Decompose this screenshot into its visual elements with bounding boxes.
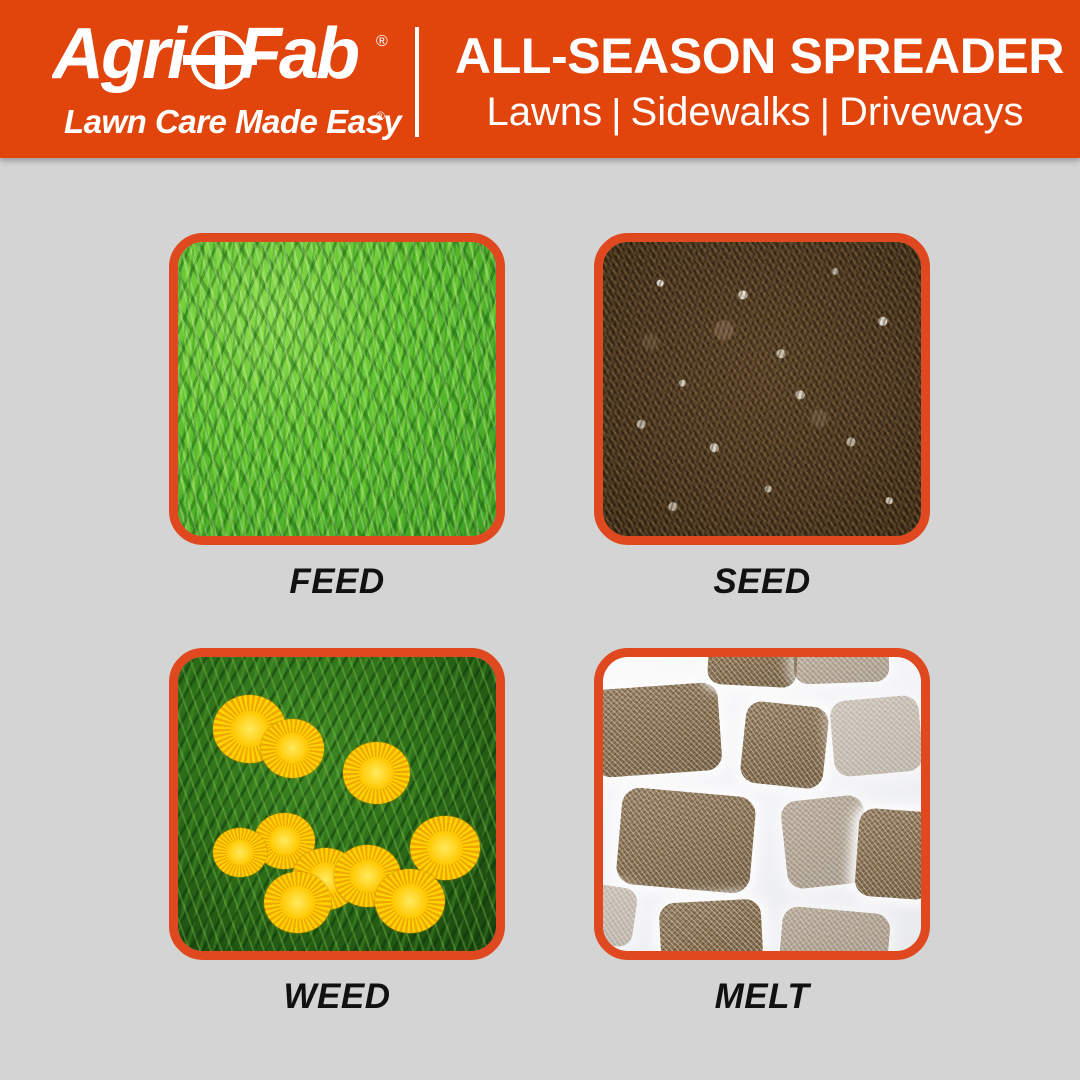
subhead-part-sidewalks: Sidewalks	[631, 90, 811, 134]
tile-seed-label: SEED	[594, 562, 930, 602]
bare-soil-photo	[603, 242, 921, 536]
header-headline-block: ALL-SEASON SPREADER Lawns|Sidewalks|Driv…	[455, 26, 1055, 137]
paver-stone	[659, 898, 764, 960]
subhead-separator-1: |	[611, 89, 621, 139]
headline-subtitle: Lawns|Sidewalks|Driveways	[455, 87, 1055, 137]
tile-seed-frame	[594, 233, 930, 545]
dandelion-flower	[375, 869, 445, 934]
tile-weed: WEED	[169, 648, 505, 1017]
brand-wordmark: Agri Fab ®	[52, 16, 402, 98]
brand-tagline: Lawn Care Made Easy ®	[64, 102, 404, 142]
paver-stone	[793, 648, 890, 685]
tile-melt: MELT	[594, 648, 930, 1017]
wordmark-agri: Agri	[52, 16, 189, 94]
tile-feed-label: FEED	[169, 562, 505, 602]
paver-stone	[594, 883, 639, 948]
dandelion-flower	[343, 742, 410, 804]
paver-stone	[854, 807, 930, 900]
subhead-part-lawns: Lawns	[487, 90, 603, 134]
dandelion-weeds-photo	[178, 657, 496, 951]
tile-melt-frame	[594, 648, 930, 960]
paver-stone	[594, 682, 724, 779]
paver-stone	[615, 787, 756, 895]
tile-seed: SEED	[594, 233, 930, 602]
brand-logo: Agri Fab ® Lawn Care Made Easy ®	[52, 16, 402, 144]
paver-stone	[707, 648, 798, 689]
tile-feed: FEED	[169, 233, 505, 602]
subhead-separator-2: |	[820, 89, 830, 139]
tile-melt-label: MELT	[594, 977, 930, 1017]
dandelion-flower	[261, 719, 325, 778]
header-banner: Agri Fab ® Lawn Care Made Easy ® ALL-SEA…	[0, 0, 1080, 158]
wordmark-registered-mark: ®	[376, 33, 388, 50]
feature-tile-grid: FEED SEED WEED	[0, 158, 1080, 1080]
dandelion-flower	[213, 828, 267, 878]
paver-stone	[829, 694, 924, 778]
wordmark-fab: Fab	[238, 16, 358, 94]
tagline-text: Lawn Care Made Easy	[64, 103, 403, 140]
headline-title: ALL-SEASON SPREADER	[455, 26, 1055, 86]
tile-weed-frame	[169, 648, 505, 960]
agri-fab-wordmark-svg: Agri Fab ®	[52, 16, 402, 98]
snow-covered-pavers-photo	[603, 657, 921, 951]
header-divider	[415, 27, 419, 137]
tile-feed-frame	[169, 233, 505, 545]
paver-stone	[779, 905, 892, 960]
tagline-svg: Lawn Care Made Easy ®	[64, 102, 404, 142]
dandelion-flower	[264, 872, 331, 934]
tagline-registered-mark: ®	[376, 109, 385, 123]
paver-stone	[739, 700, 830, 791]
subhead-part-driveways: Driveways	[839, 90, 1023, 134]
green-grass-photo	[178, 242, 496, 536]
tile-weed-label: WEED	[169, 977, 505, 1017]
